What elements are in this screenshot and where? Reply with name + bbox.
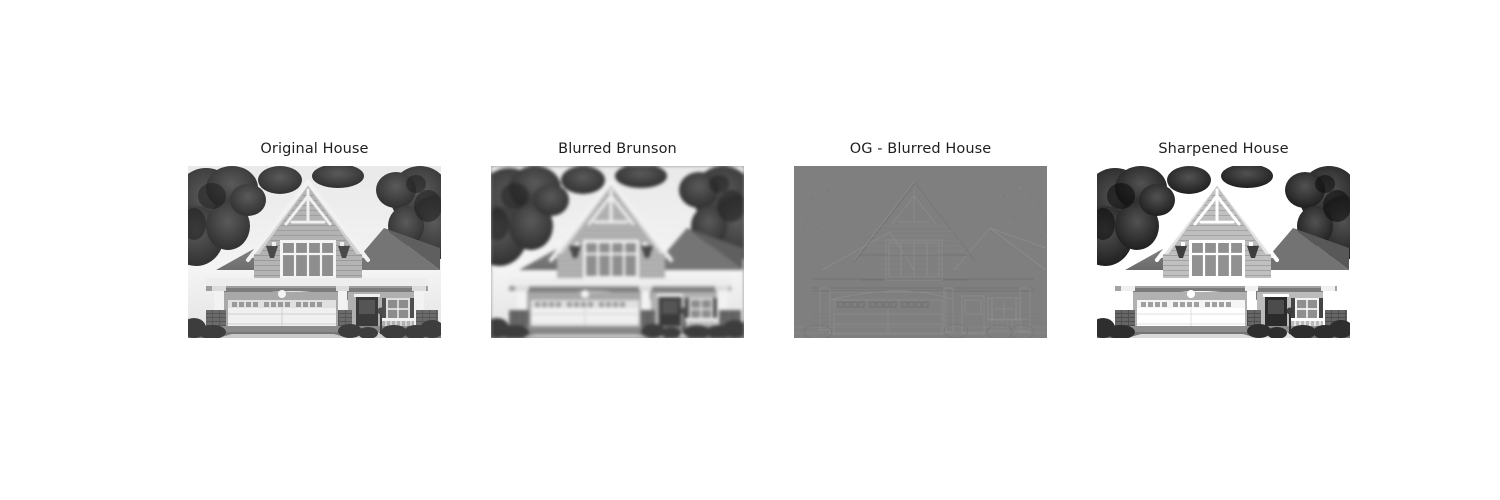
image-original-house [188, 166, 441, 338]
panel-blurred: Blurred Brunson [491, 140, 744, 338]
panel-title-original: Original House [188, 140, 441, 158]
panel-title-difference: OG - Blurred House [794, 140, 1047, 158]
panel-title-sharpened: Sharpened House [1097, 140, 1350, 158]
difference-edge-layer [794, 166, 1047, 338]
figure-canvas: Original House [0, 0, 1500, 500]
panel-original: Original House [188, 140, 441, 338]
panel-title-blurred: Blurred Brunson [491, 140, 744, 158]
panel-difference: OG - Blurred House [794, 140, 1047, 338]
image-difference-house [794, 166, 1047, 338]
image-sharpened-house [1097, 166, 1350, 338]
image-blurred-house [491, 166, 744, 338]
panel-sharpened: Sharpened House [1097, 140, 1350, 338]
